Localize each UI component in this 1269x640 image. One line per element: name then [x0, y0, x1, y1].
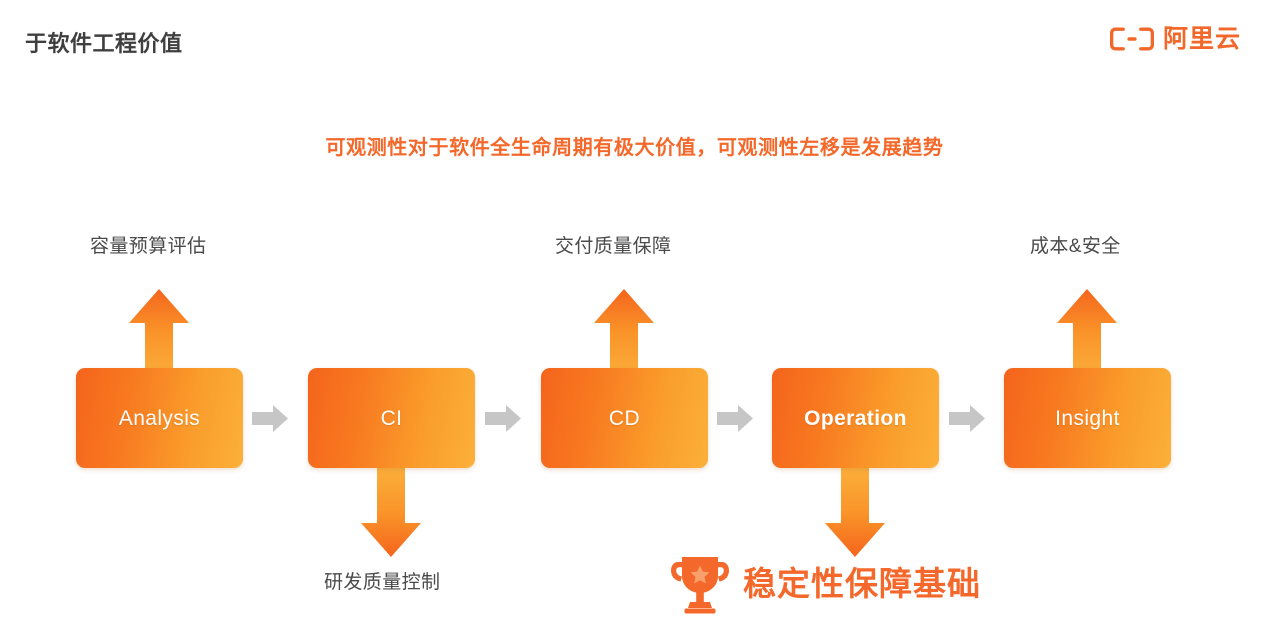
stage-label: Analysis — [119, 408, 200, 429]
stage-box-insight[interactable]: Insight — [1004, 368, 1171, 468]
stage-box-ci[interactable]: CI — [308, 368, 475, 468]
arrow-down-icon — [824, 462, 886, 558]
stage-label: Insight — [1055, 408, 1120, 429]
arrow-right-icon — [485, 405, 521, 432]
arrow-right-icon — [717, 405, 753, 432]
arrow-right-icon — [949, 405, 985, 432]
stage-box-operation[interactable]: Operation — [772, 368, 939, 468]
stage-label: CI — [381, 408, 403, 429]
arrow-down-icon — [360, 462, 422, 558]
highlight-banner: 稳定性保障基础 — [671, 552, 981, 614]
pipeline-diagram: Analysis CI CD Operation Insight 容量预算评估 … — [0, 0, 1269, 640]
highlight-text: 稳定性保障基础 — [743, 567, 981, 600]
caption-above-cd: 交付质量保障 — [555, 231, 671, 258]
caption-below-ci: 研发质量控制 — [324, 567, 440, 594]
trophy-icon — [671, 552, 729, 614]
stage-box-cd[interactable]: CD — [541, 368, 708, 468]
caption-above-analysis: 容量预算评估 — [90, 231, 206, 258]
stage-label: Operation — [804, 408, 907, 429]
stage-box-analysis[interactable]: Analysis — [76, 368, 243, 468]
stage-label: CD — [609, 408, 640, 429]
arrow-right-icon — [252, 405, 288, 432]
caption-above-insight: 成本&安全 — [1030, 231, 1121, 258]
